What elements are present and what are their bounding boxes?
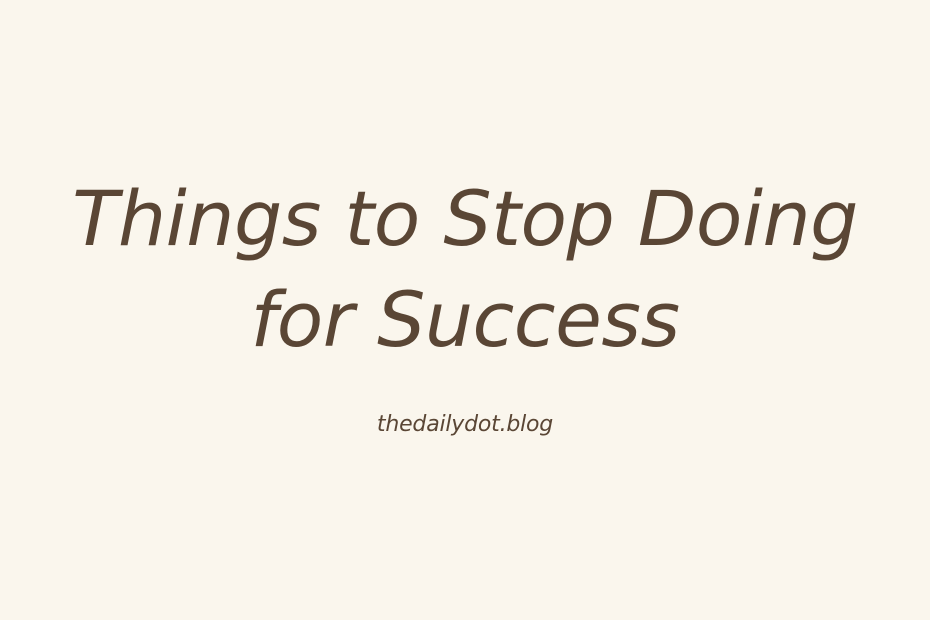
site-attribution: thedailydot.blog	[377, 414, 553, 436]
title-card: Things to Stop Doing for Success thedail…	[0, 0, 930, 620]
title-line-1: Things to Stop Doing	[50, 168, 880, 269]
title-line-2: for Success	[50, 269, 880, 370]
page-title: Things to Stop Doing for Success	[50, 168, 880, 370]
